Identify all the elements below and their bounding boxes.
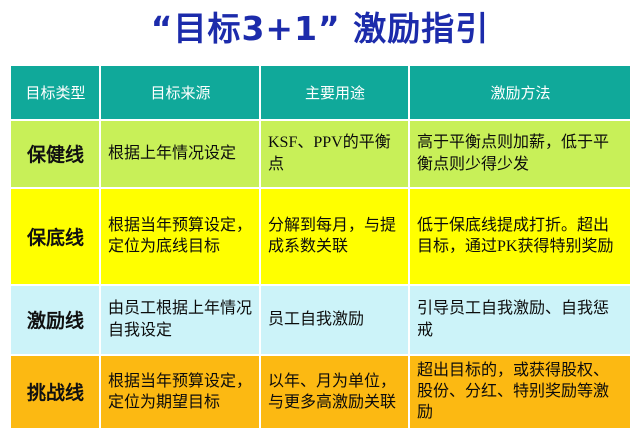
- cell-incentive-method: 低于保底线提成打折。超出目标，通过PK获得特别奖励: [410, 189, 630, 286]
- cell-incentive-method: 引导员工自我激励、自我惩戒: [410, 286, 630, 356]
- cell-goal-type: 保健线: [11, 121, 101, 189]
- cell-main-usage: 以年、月为单位，与更多高激励关联: [261, 356, 410, 428]
- column-header-goal-type: 目标类型: [11, 66, 101, 121]
- cell-main-usage: 分解到每月，与提成系数关联: [261, 189, 410, 286]
- cell-goal-source: 根据当年预算设定，定位为期望目标: [101, 356, 261, 428]
- table-row: 保底线 根据当年预算设定，定位为底线目标 分解到每月，与提成系数关联 低于保底线…: [11, 189, 630, 286]
- table-row: 激励线 由员工根据上年情况自我设定 员工自我激励 引导员工自我激励、自我惩戒: [11, 286, 630, 356]
- cell-goal-type: 激励线: [11, 286, 101, 356]
- cell-incentive-method: 超出目标的，或获得股权、股份、分红、特别奖励等激励: [410, 356, 630, 428]
- cell-goal-source: 由员工根据上年情况自我设定: [101, 286, 261, 356]
- column-header-incentive-method: 激励方法: [410, 66, 630, 121]
- table-row: 保健线 根据上年情况设定 KSF、PPV的平衡点 高于平衡点则加薪，低于平衡点则…: [11, 121, 630, 189]
- column-header-main-usage: 主要用途: [261, 66, 410, 121]
- table-header-row: 目标类型 目标来源 主要用途 激励方法: [11, 66, 630, 121]
- cell-goal-source: 根据当年预算设定，定位为底线目标: [101, 189, 261, 286]
- column-header-goal-source: 目标来源: [101, 66, 261, 121]
- cell-main-usage: KSF、PPV的平衡点: [261, 121, 410, 189]
- cell-main-usage: 员工自我激励: [261, 286, 410, 356]
- cell-incentive-method: 高于平衡点则加薪，低于平衡点则少得少发: [410, 121, 630, 189]
- cell-goal-type: 挑战线: [11, 356, 101, 428]
- table-row: 挑战线 根据当年预算设定，定位为期望目标 以年、月为单位，与更多高激励关联 超出…: [11, 356, 630, 428]
- page-title: “目标3+1” 激励指引: [0, 5, 640, 53]
- goal-incentive-table: 目标类型 目标来源 主要用途 激励方法 保健线 根据上年情况设定 KSF、PPV…: [11, 66, 630, 428]
- cell-goal-source: 根据上年情况设定: [101, 121, 261, 189]
- cell-goal-type: 保底线: [11, 189, 101, 286]
